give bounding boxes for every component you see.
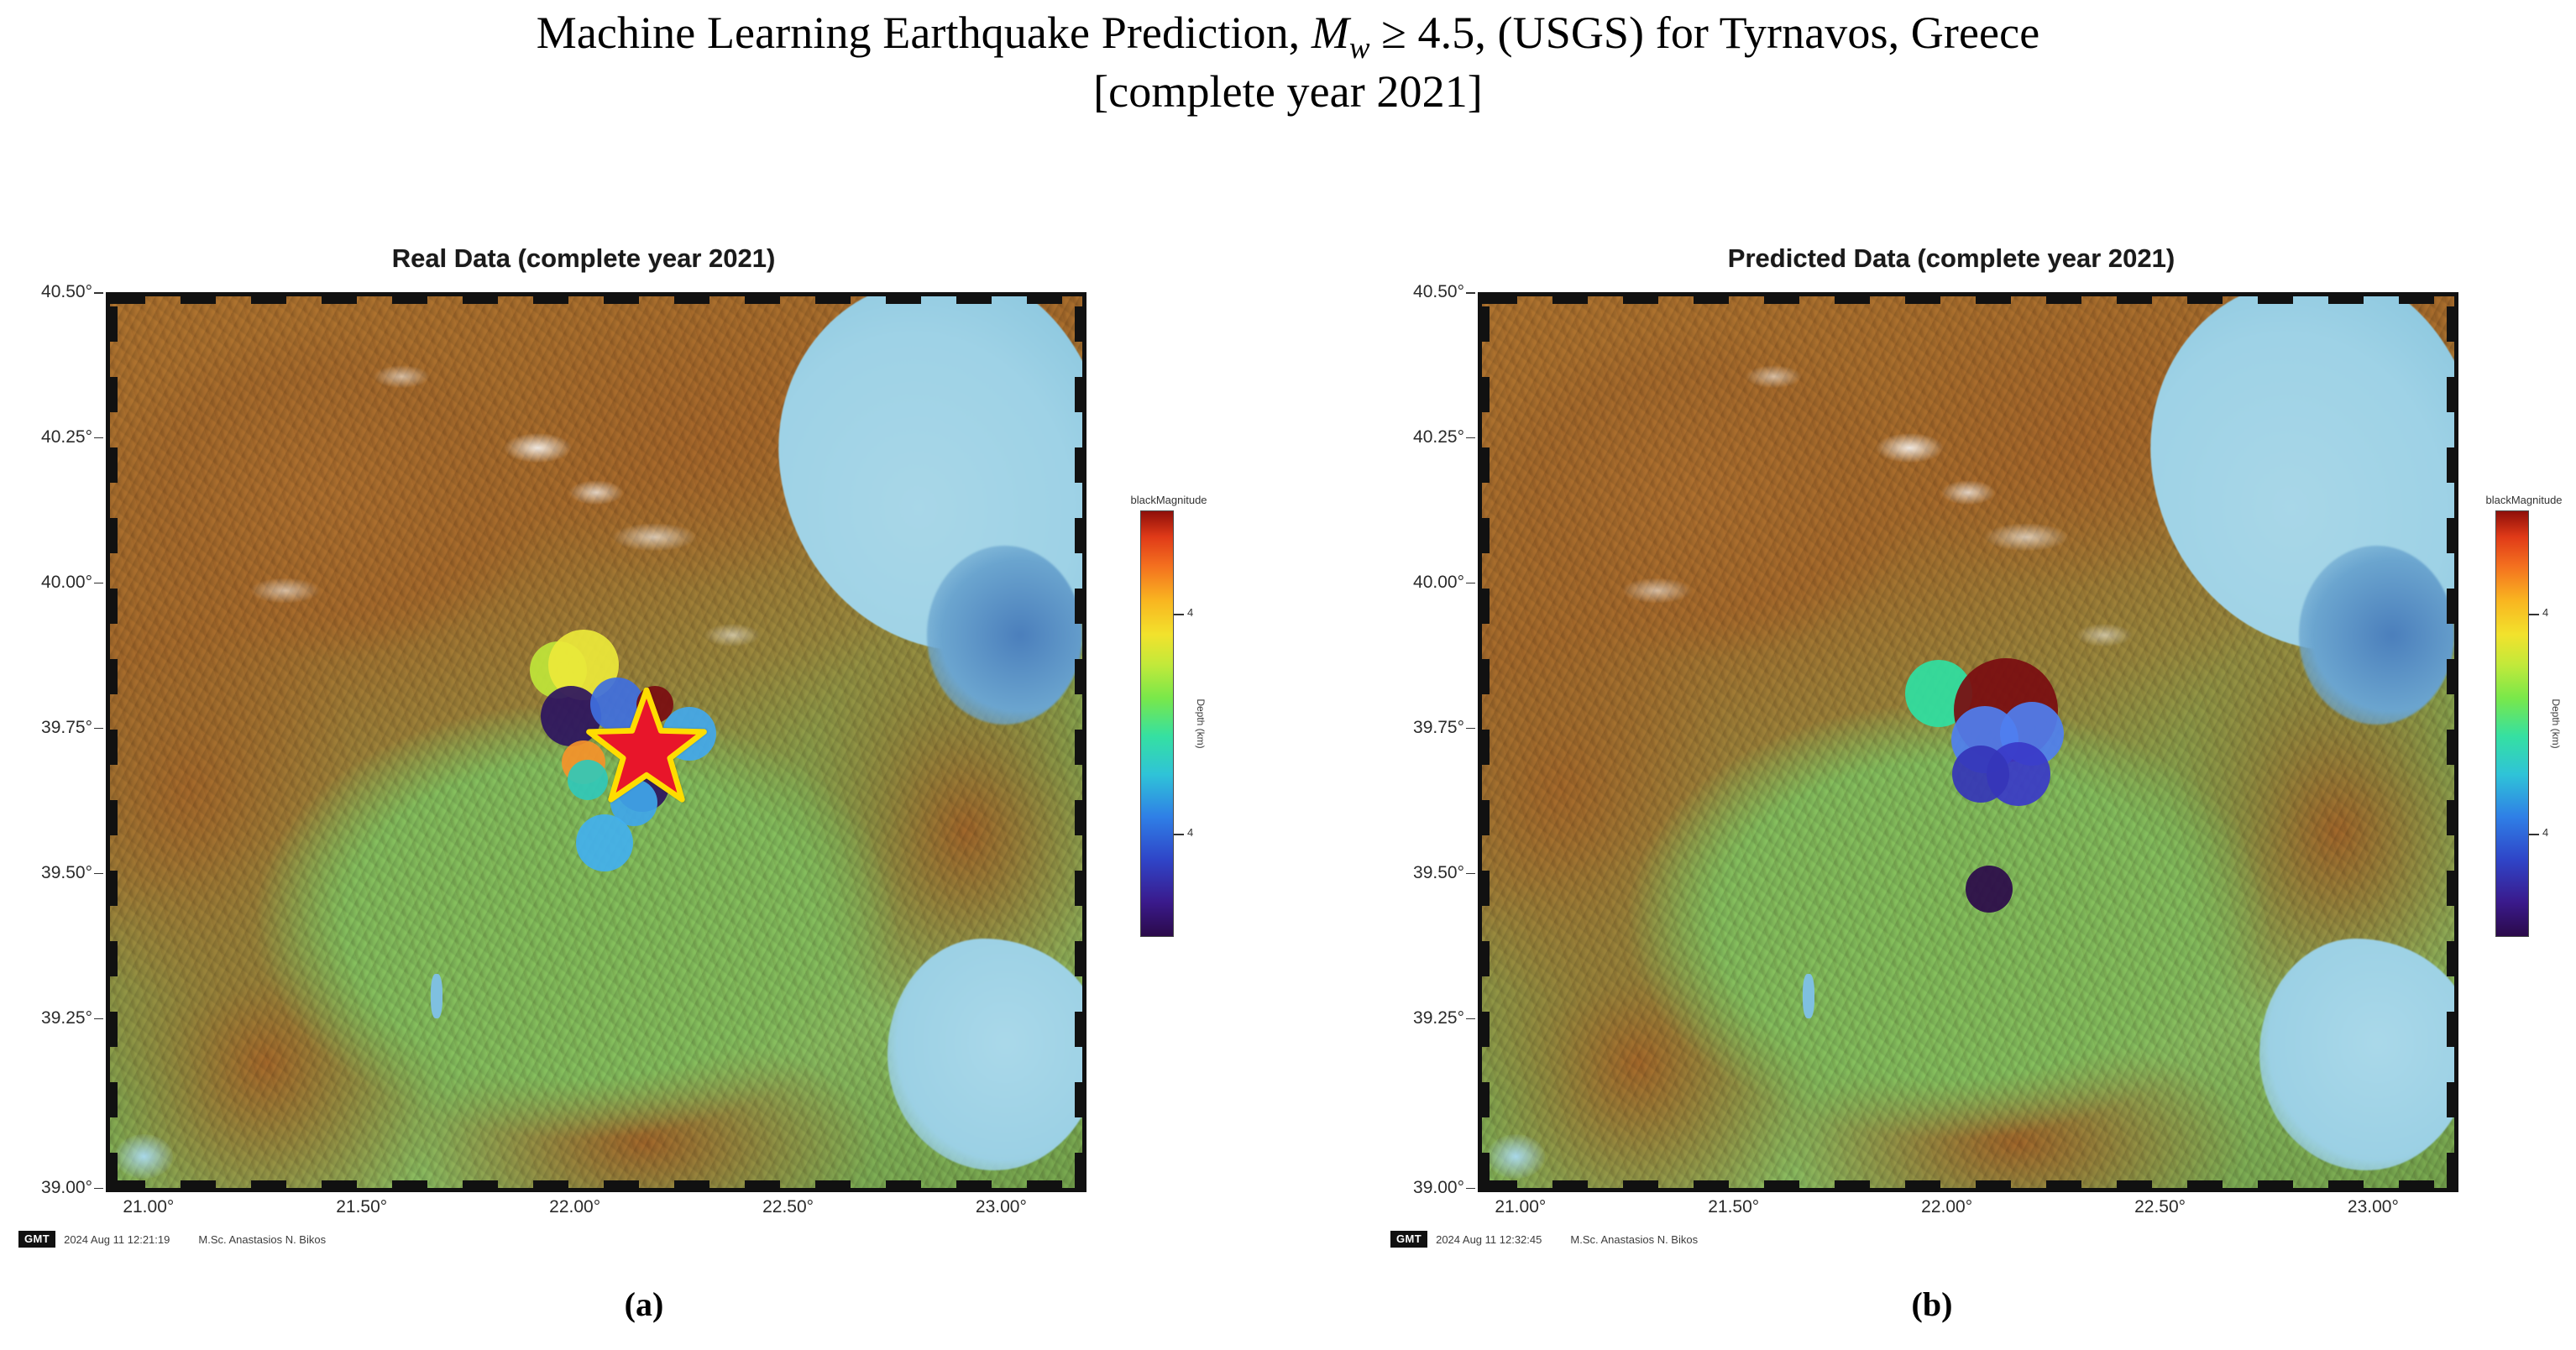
panel-a-y-axis: 40.50° 40.25° 40.00° 39.75° 39.50° 39.25… [0,292,101,1192]
colorbar-tick-lower-a: 4 [1174,834,1184,835]
colorbar-tick-upper-label-a: 4 [1187,606,1193,619]
y-tick-40-50-b: 40.50° [1413,282,1464,302]
magnitude-symbol-subscript: w [1349,30,1370,65]
gmt-timestamp-a: 2024 Aug 11 12:21:19 [64,1233,170,1246]
gmt-author-b: M.Sc. Anastasios N. Bikos [1570,1233,1698,1246]
water-lake-b [1803,974,1814,1018]
earthquake-marker [1952,746,2009,803]
panel-b-y-axis: 40.50° 40.25° 40.00° 39.75° 39.50° 39.25… [1372,292,1473,1192]
gmt-credit-b: GMT 2024 Aug 11 12:32:45 M.Sc. Anastasio… [1390,1231,1698,1248]
water-deep-a [927,546,1082,724]
colorbar-gradient-b [2495,510,2529,937]
colorbar-axis-label-a: Depth (km) [1195,699,1207,748]
gmt-author-a: M.Sc. Anastasios N. Bikos [198,1233,326,1246]
colorbar-title-a: blackMagnitude [1118,494,1219,506]
colorbar-axis-label-b: Depth (km) [2550,699,2562,748]
figure-title-line-2: [complete year 2021] [0,65,2576,119]
water-lake-a [431,974,442,1018]
y-tick-39-75: 39.75° [41,718,92,738]
title-suffix: ≥ 4.5, (USGS) for Tyrnavos, Greece [1370,8,2040,58]
gmt-credit-a: GMT 2024 Aug 11 12:21:19 M.Sc. Anastasio… [18,1231,326,1248]
x-tick-21-00-b: 21.00° [1495,1197,1546,1217]
y-tick-40-50: 40.50° [41,282,92,302]
gmt-logo-icon-b: GMT [1390,1231,1427,1248]
colorbar-tick-upper-b: 4 [2529,614,2539,615]
y-tick-40-25-b: 40.25° [1413,427,1464,447]
gmt-logo-icon-a: GMT [18,1231,55,1248]
y-tick-39-00: 39.00° [41,1178,92,1198]
water-pagasetic-a [887,939,1086,1170]
panel-b-colorbar: blackMagnitude 4 4 Depth (km) [2474,494,2576,964]
figure-title-line-1: Machine Learning Earthquake Prediction, … [0,7,2576,65]
epicenter-star-icon [584,688,709,814]
panel-a-title: Real Data (complete year 2021) [0,243,1167,274]
x-tick-21-00: 21.00° [123,1197,174,1217]
panel-b-title: Predicted Data (complete year 2021) [1372,243,2531,274]
earthquake-marker [1966,866,2013,913]
panel-b-map[interactable] [1478,292,2458,1192]
colorbar-title-b: blackMagnitude [2474,494,2574,506]
colorbar-tick-upper-label-b: 4 [2542,606,2548,619]
subcaption-a: (a) [0,1285,1288,1324]
colorbar-tick-upper-a: 4 [1174,614,1184,615]
gmt-timestamp-b: 2024 Aug 11 12:32:45 [1436,1233,1542,1246]
figure-title: Machine Learning Earthquake Prediction, … [0,7,2576,119]
panel-real-data: Real Data (complete year 2021) 40.50° 40… [0,227,1288,1268]
magnitude-symbol-base: M [1312,8,1349,58]
title-prefix: Machine Learning Earthquake Prediction, [537,8,1312,58]
water-pagasetic-b [2259,939,2458,1170]
colorbar-tick-lower-label-b: 4 [2542,826,2548,839]
x-tick-22-00: 22.00° [549,1197,600,1217]
colorbar-tick-lower-b: 4 [2529,834,2539,835]
x-tick-22-50-b: 22.50° [2134,1197,2186,1217]
y-tick-39-25: 39.25° [41,1008,92,1028]
y-tick-39-00-b: 39.00° [1413,1178,1464,1198]
panel-b-x-axis: 21.00° 21.50° 22.00° 22.50° 23.00° [1478,1197,2458,1231]
y-tick-39-75-b: 39.75° [1413,718,1464,738]
x-tick-21-50-b: 21.50° [1708,1197,1759,1217]
colorbar-tick-lower-label-a: 4 [1187,826,1193,839]
y-tick-39-25-b: 39.25° [1413,1008,1464,1028]
magnitude-symbol: Mw [1312,8,1370,58]
y-tick-40-25: 40.25° [41,427,92,447]
x-tick-22-00-b: 22.00° [1921,1197,1972,1217]
x-tick-22-50: 22.50° [762,1197,814,1217]
y-tick-39-50: 39.50° [41,863,92,883]
water-deep-b [2299,546,2454,724]
y-tick-40-00-b: 40.00° [1413,573,1464,593]
panel-predicted-data: Predicted Data (complete year 2021) 40.5… [1288,227,2576,1268]
x-tick-21-50: 21.50° [336,1197,387,1217]
x-tick-23-00-b: 23.00° [2348,1197,2399,1217]
y-tick-39-50-b: 39.50° [1413,863,1464,883]
panel-a-colorbar: blackMagnitude 4 4 Depth (km) [1118,494,1261,964]
earthquake-marker [576,814,633,871]
subcaption-b: (b) [1288,1285,2576,1324]
x-tick-23-00: 23.00° [976,1197,1027,1217]
y-tick-40-00: 40.00° [41,573,92,593]
panel-a-map[interactable] [106,292,1086,1192]
colorbar-gradient-a [1140,510,1174,937]
panel-a-x-axis: 21.00° 21.50° 22.00° 22.50° 23.00° [106,1197,1086,1231]
